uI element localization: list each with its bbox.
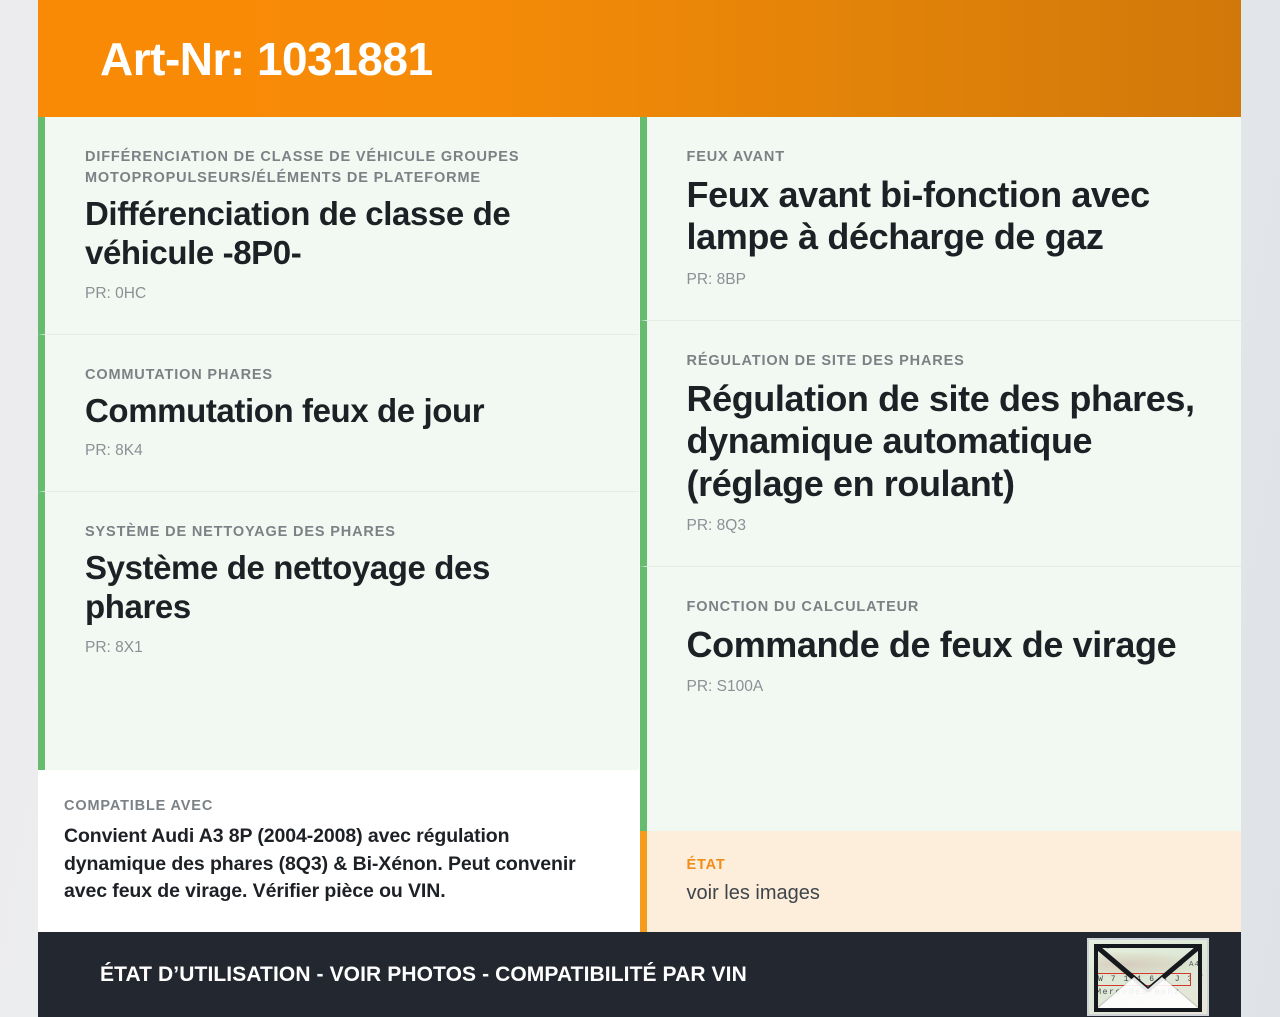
feature-pr-code: PR: 8Q3 — [687, 517, 1196, 536]
compatibility-text: Convient Audi A3 8P (2004-2008) avec rég… — [64, 823, 593, 906]
feature-card: Différenciation de classe de véhicule Gr… — [38, 117, 639, 334]
feature-pr-code: PR: 8BP — [687, 271, 1196, 290]
feature-card: Feux avant Feux avant bi-fonction avec l… — [640, 117, 1242, 320]
condition-value: voir les images — [687, 881, 1196, 906]
feature-title: Système de nettoyage des phares — [85, 549, 593, 627]
left-column: Différenciation de classe de véhicule Gr… — [38, 117, 640, 932]
feature-label: Feux avant — [687, 147, 1196, 168]
feature-label: Commutation phares — [85, 365, 593, 386]
feature-label: Différenciation de classe de véhicule Gr… — [85, 147, 593, 189]
feature-label: Fonction du calculateur — [687, 597, 1196, 618]
compatibility-label: Compatible avec — [64, 798, 593, 814]
footer-notice: ÉTAT D’UTILISATION - VOIR PHOTOS - COMPA… — [100, 963, 747, 987]
feature-card: Système de nettoyage des phares Système … — [38, 491, 639, 687]
condition-label: État — [687, 857, 1196, 873]
feature-label: Système de nettoyage des phares — [85, 522, 593, 543]
feature-card: Fonction du calculateur Commande de feux… — [640, 566, 1242, 727]
feature-title: Différenciation de classe de véhicule -8… — [85, 195, 593, 273]
feature-card: Commutation phares Commutation feux de j… — [38, 334, 639, 492]
feature-title: Commande de feux de virage — [687, 624, 1196, 666]
feature-pr-code: PR: 8K4 — [85, 442, 593, 461]
feature-label: Régulation de site des phares — [687, 351, 1196, 372]
feature-title: Commutation feux de jour — [85, 392, 593, 431]
feature-pr-code: PR: 8X1 — [85, 639, 593, 658]
right-column: Feux avant Feux avant bi-fonction avec l… — [640, 117, 1242, 932]
compatibility-block: Compatible avec Convient Audi A3 8P (200… — [38, 770, 639, 932]
left-column-filler — [38, 688, 639, 770]
feature-card: Régulation de site des phares Régulation… — [640, 320, 1242, 566]
condition-block: État voir les images — [640, 831, 1242, 932]
page-title: Art-Nr: 1031881 — [100, 36, 433, 82]
feature-title: Feux avant bi-fonction avec lampe à déch… — [687, 174, 1196, 259]
feature-pr-code: PR: S100A — [687, 678, 1196, 697]
page-header: Art-Nr: 1031881 — [38, 0, 1241, 117]
envelope-icon — [1094, 944, 1202, 1012]
feature-title: Régulation de site des phares, dynamique… — [687, 378, 1196, 505]
feature-pr-code: PR: 0HC — [85, 285, 593, 304]
page-footer: ÉTAT D’UTILISATION - VOIR PHOTOS - COMPA… — [38, 932, 1241, 1017]
broken-image-thumbnail[interactable]: Fahrgestellnr. 4 A4 W 7 1 4 6 3 J 3 1 7 … — [1087, 938, 1209, 1016]
right-column-filler — [640, 727, 1242, 831]
article-sheet: Art-Nr: 1031881 Différenciation de class… — [38, 0, 1241, 1017]
content-body: Différenciation de classe de véhicule Gr… — [38, 117, 1241, 932]
